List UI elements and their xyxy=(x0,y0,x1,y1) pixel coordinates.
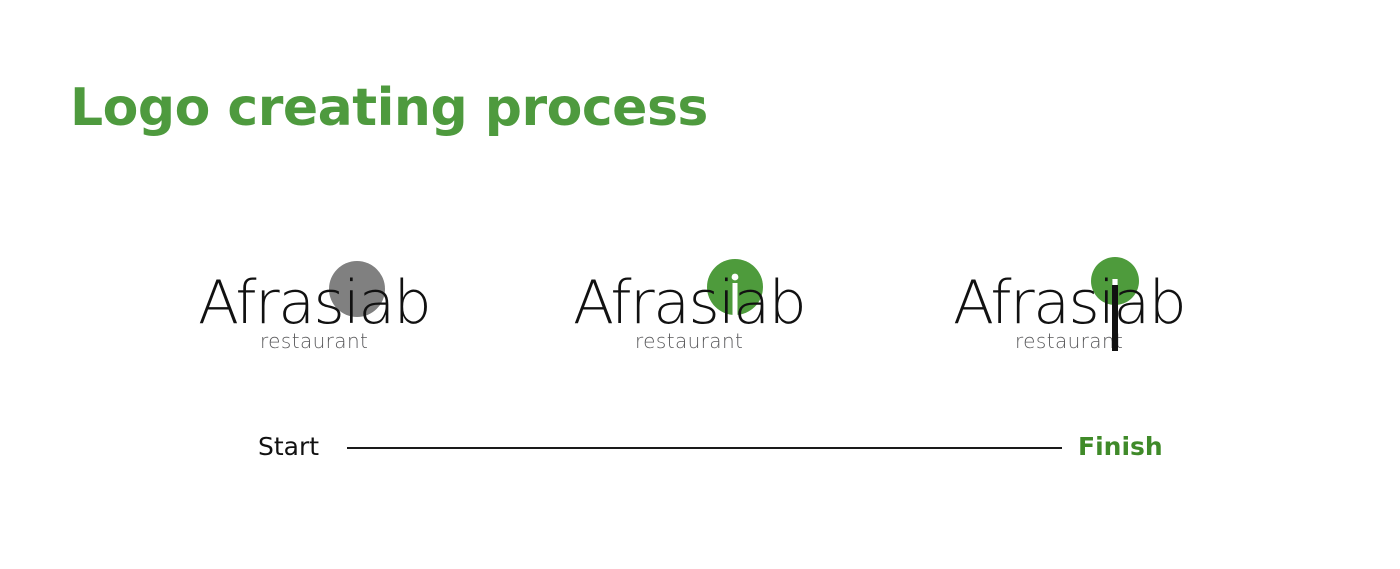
logo-stage-3-artwork: Afrasiab restaurant xyxy=(953,255,1213,375)
progress-line xyxy=(347,447,1062,449)
logo-wordmark: Afrasiab xyxy=(953,273,1185,333)
tree-trunk-icon xyxy=(1112,285,1118,351)
logo-stage-3: Afrasiab restaurant xyxy=(953,255,1253,375)
logo-subword: restaurant xyxy=(260,331,368,351)
logo-wordmark: Afrasiab xyxy=(198,273,430,333)
logo-subword: restaurant xyxy=(1015,331,1123,351)
progress-timeline: Start Finish xyxy=(0,430,1400,470)
slide-canvas: Logo creating process Afrasiab restauran… xyxy=(0,0,1400,569)
logo-subword: restaurant xyxy=(635,331,743,351)
logo-stage-1: Afrasiab restaurant xyxy=(198,255,498,375)
logo-wordmark: Afrasiab xyxy=(573,273,805,333)
progress-start-label: Start xyxy=(258,430,319,464)
progress-finish-label: Finish xyxy=(1078,430,1163,464)
logo-stage-2: Afrasiab restaurant xyxy=(573,255,873,375)
logo-stage-2-artwork: Afrasiab restaurant xyxy=(573,255,833,375)
logo-stage-1-artwork: Afrasiab restaurant xyxy=(198,255,458,375)
logo-iterations-row: Afrasiab restaurant Afrasiab restaurant xyxy=(0,255,1400,375)
page-title: Logo creating process xyxy=(70,80,708,137)
